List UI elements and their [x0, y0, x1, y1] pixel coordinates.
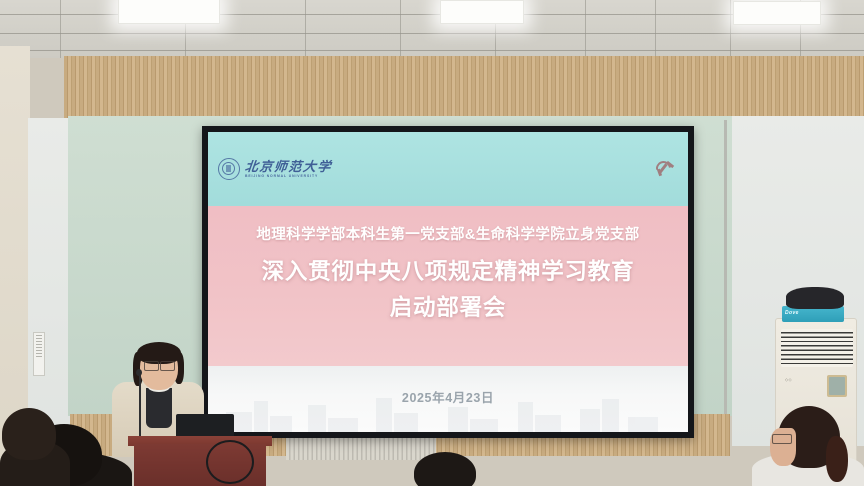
- wood-slat-wall-upper: [64, 56, 864, 118]
- wall-sign: [33, 332, 45, 376]
- audience-4-glasses: [772, 434, 792, 444]
- cpc-hammer-sickle-icon: [655, 160, 674, 177]
- ceiling: [0, 0, 864, 58]
- aircon-brand-label: ◇◇: [785, 377, 792, 382]
- box-label: Dove: [785, 310, 799, 316]
- presentation-slide: 北京师范大学 BEIJING NORMAL UNIVERSITY 地理科学学部本…: [208, 132, 688, 432]
- aircon-vents: [781, 329, 853, 367]
- university-brand: 北京师范大学 BEIJING NORMAL UNIVERSITY: [218, 158, 332, 180]
- ceiling-light-1: [118, 0, 220, 24]
- slide-body: 地理科学学部本科生第一党支部&生命科学学院立身党支部 深入贯彻中央八项规定精神学…: [208, 206, 688, 367]
- slide-footer-band: 2025年4月23日: [208, 366, 688, 432]
- audience-head-3: [414, 452, 476, 486]
- microphone-stem: [139, 374, 141, 438]
- slide-title-line-2: 启动部署会: [208, 291, 688, 326]
- board-edge-rail: [724, 120, 727, 420]
- university-name-en: BEIJING NORMAL UNIVERSITY: [245, 175, 332, 178]
- bnu-seal-icon: [218, 158, 240, 180]
- presenter-glasses-right: [160, 361, 175, 371]
- slide-date: 2025年4月23日: [208, 387, 688, 406]
- presenter-glasses-left: [144, 361, 159, 371]
- microphone-head: [136, 369, 142, 376]
- slide-header-band: 北京师范大学 BEIJING NORMAL UNIVERSITY: [208, 132, 688, 206]
- bnu-wordmark: 北京师范大学 BEIJING NORMAL UNIVERSITY: [245, 160, 332, 178]
- aircon-display-panel: [827, 375, 847, 397]
- presenter-inner-top: [146, 388, 172, 428]
- ceiling-light-2: [440, 0, 524, 24]
- university-name-cn: 北京师范大学: [244, 160, 332, 173]
- dark-bag-on-aircon: [786, 287, 844, 309]
- cable-loop: [206, 440, 254, 484]
- slide-subtitle: 地理科学学部本科生第一党支部&生命科学学院立身党支部: [208, 223, 688, 244]
- ceiling-light-3: [733, 1, 821, 25]
- classroom-photo-scene: ◇◇ Dove 北京师范大学 BEIJING NORMAL UNIVERSITY: [0, 0, 864, 486]
- audience-4-ponytail: [826, 436, 848, 482]
- projection-screen-frame: 北京师范大学 BEIJING NORMAL UNIVERSITY 地理科学学部本…: [202, 126, 694, 438]
- audience-head-2: [2, 408, 56, 460]
- slide-title-line-1: 深入贯彻中央八项规定精神学习教育: [208, 255, 688, 290]
